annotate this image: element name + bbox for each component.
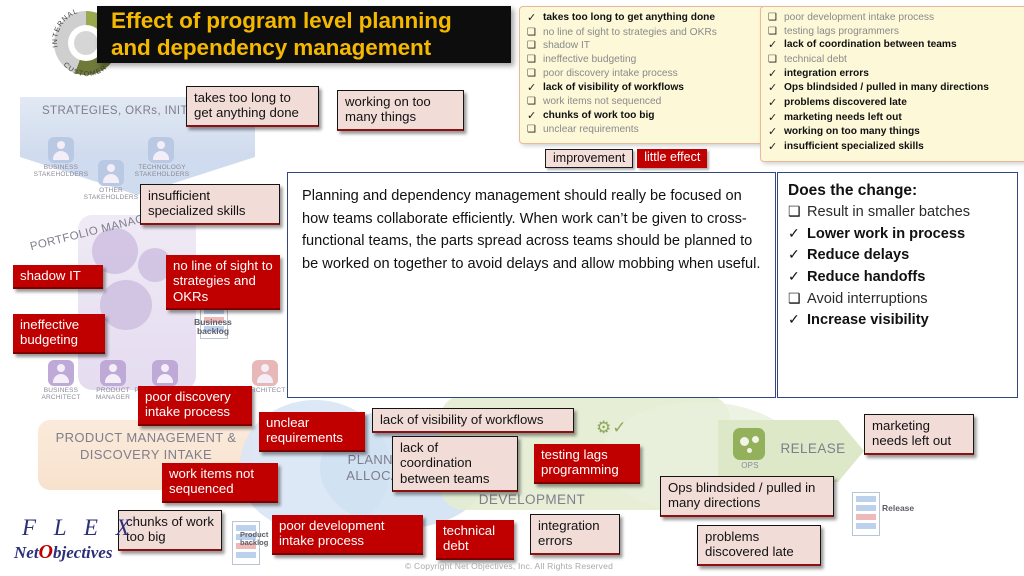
logo-objectives-text: bjectives [53, 543, 112, 562]
svg-text:CUSTOMER: CUSTOMER [62, 61, 109, 78]
checklist-left-item-row[interactable]: ❑work items not sequenced [527, 96, 758, 108]
checklist-left-item-row[interactable]: ❑poor discovery intake process [527, 68, 758, 80]
check-icon[interactable]: ✓ [768, 141, 784, 154]
title-banner: Effect of program level planning and dep… [97, 6, 511, 63]
change-item-label: Reduce delays [807, 246, 909, 265]
callout-poor-discovery-intake[interactable]: poor discovery intake process [138, 386, 252, 426]
checklist-right-item-label: lack of coordination between teams [784, 39, 957, 51]
check-icon[interactable]: ✓ [788, 311, 807, 329]
checklist-left-item-row[interactable]: ✓chunks of work too big [527, 110, 758, 123]
title-line-2: and dependency management [111, 35, 431, 60]
checkbox-icon[interactable]: ❑ [527, 54, 543, 65]
callout-insufficient-skills[interactable]: insufficient specialized skills [140, 184, 280, 225]
checklist-right-item-row[interactable]: ✓marketing needs left out [768, 112, 1024, 125]
badge-customer-text: CUSTOMER [62, 61, 109, 78]
checklist-right-item-label: insufficient specialized skills [784, 141, 924, 153]
check-icon[interactable]: ✓ [768, 97, 784, 110]
callout-integration-errors[interactable]: integration errors [530, 514, 620, 555]
change-item-label: Increase visibility [807, 311, 929, 330]
checkbox-icon[interactable]: ❑ [768, 54, 784, 65]
checklist-right-item-row[interactable]: ✓lack of coordination between teams [768, 39, 1024, 52]
person-icon-product-manager [100, 360, 126, 386]
checklist-left-item-row[interactable]: ❑shadow IT [527, 40, 758, 52]
checklist-panel-left: ✓takes too long to get anything done❑no … [519, 6, 767, 144]
page-title: Effect of program level planning and dep… [111, 8, 452, 60]
checklist-left-item-label: poor discovery intake process [543, 68, 678, 80]
main-panel-body: Planning and dependency management shoul… [302, 185, 761, 275]
checklist-left-item-label: lack of visibility of workflows [543, 82, 684, 94]
legend-little-effect: little effect [637, 149, 707, 168]
change-item-row[interactable]: ❑Result in smaller batches [788, 203, 1007, 222]
slide-canvas: STRATEGIES, OKRs, INITIATIVES BUSINESS S… [0, 0, 1024, 576]
callout-work-items-not-seq[interactable]: work items not sequenced [162, 463, 278, 503]
callout-ops-blindsided[interactable]: Ops blindsided / pulled in many directio… [660, 476, 834, 517]
callout-testing-lags[interactable]: testing lags programming [534, 444, 640, 484]
check-icon[interactable]: ✓ [527, 82, 543, 95]
role-label-business-stakeholders: BUSINESS STAKEHOLDERS [22, 164, 100, 179]
callout-ineffective-budgeting[interactable]: ineffective budgeting [13, 314, 105, 354]
check-icon[interactable]: ✓ [768, 82, 784, 95]
checklist-right-item-row[interactable]: ✓Ops blindsided / pulled in many directi… [768, 82, 1024, 95]
checklist-left-item-label: takes too long to get anything done [543, 12, 715, 24]
checklist-right-item-row[interactable]: ❑testing lags programmers [768, 26, 1024, 38]
callout-lack-coordination[interactable]: lack of coordination between teams [392, 436, 518, 492]
callout-lack-visibility[interactable]: lack of visibility of workflows [372, 408, 574, 433]
callout-technical-debt[interactable]: technical debt [436, 520, 514, 560]
legend: improvement little effect [545, 149, 707, 168]
checkbox-icon[interactable]: ❑ [527, 68, 543, 79]
checkbox-icon[interactable]: ❑ [527, 124, 543, 135]
change-item-label: Result in smaller batches [807, 203, 970, 222]
check-icon[interactable]: ✓ [527, 12, 543, 25]
business-backlog-caption: Business backlog [182, 318, 244, 337]
badge-internal-text: INTERNAL [52, 8, 80, 48]
pmdi-label: PRODUCT MANAGEMENT & DISCOVERY INTAKE [40, 430, 252, 463]
checklist-right-item-row[interactable]: ✓integration errors [768, 68, 1024, 81]
callout-marketing-left-out[interactable]: marketing needs left out [864, 414, 974, 455]
checklist-right-item-label: technical debt [784, 54, 847, 66]
checklist-right-item-label: poor development intake process [784, 12, 934, 24]
release-label: RELEASE [775, 441, 851, 456]
checklist-right-item-label: problems discovered late [784, 97, 907, 109]
checklist-left-item-row[interactable]: ✓takes too long to get anything done [527, 12, 758, 25]
release-backlog-caption: Release [882, 504, 924, 513]
callout-no-line-of-sight[interactable]: no line of sight to strategies and OKRs [166, 255, 280, 310]
callout-problems-late[interactable]: problems discovered late [697, 525, 821, 566]
person-icon-architect [252, 360, 278, 386]
role-label-technology-stakeholders: TECHNOLOGY STAKEHOLDERS [122, 164, 202, 179]
checklist-left-item-label: chunks of work too big [543, 110, 655, 122]
checklist-left-item-row[interactable]: ❑no line of sight to strategies and OKRs [527, 27, 758, 39]
checklist-left-item-label: unclear requirements [543, 124, 639, 136]
change-item-label: Lower work in process [807, 225, 965, 244]
change-item-row[interactable]: ✓Reduce delays [788, 246, 1007, 265]
change-item-label: Reduce handoffs [807, 268, 925, 287]
change-item-row[interactable]: ✓Increase visibility [788, 311, 1007, 330]
check-icon[interactable]: ✓ [788, 268, 807, 286]
checkbox-icon[interactable]: ❑ [527, 27, 543, 38]
checklist-right-item-label: Ops blindsided / pulled in many directio… [784, 82, 989, 94]
change-item-label: Avoid interruptions [807, 290, 928, 309]
agility-icon: ⚙✓ [596, 418, 636, 442]
checklist-right-item-label: testing lags programmers [784, 26, 899, 38]
check-icon[interactable]: ✓ [768, 39, 784, 52]
checklist-left-item-row[interactable]: ❑ineffective budgeting [527, 54, 758, 66]
callout-shadow-it[interactable]: shadow IT [13, 265, 103, 289]
callout-takes-too-long[interactable]: takes too long to get anything done [186, 86, 319, 127]
checkbox-icon[interactable]: ❑ [527, 40, 543, 51]
checkbox-icon[interactable]: ❑ [788, 203, 807, 221]
change-item-row[interactable]: ✓Reduce handoffs [788, 268, 1007, 287]
release-backlog-card [852, 492, 880, 536]
change-item-row[interactable]: ❑Avoid interruptions [788, 290, 1007, 309]
checklist-right-item-row[interactable]: ✓working on too many things [768, 126, 1024, 139]
check-icon[interactable]: ✓ [788, 246, 807, 264]
checklist-left-item-label: no line of sight to strategies and OKRs [543, 27, 717, 39]
logo-net-text: Net [14, 543, 39, 562]
check-icon[interactable]: ✓ [527, 110, 543, 123]
title-line-1: Effect of program level planning [111, 8, 452, 33]
checkbox-icon[interactable]: ❑ [527, 96, 543, 107]
callout-unclear-requirements[interactable]: unclear requirements [259, 412, 365, 452]
checklist-right-item-label: integration errors [784, 68, 869, 80]
legend-improvement: improvement [545, 149, 633, 168]
ops-icon [733, 428, 765, 460]
checklist-panel-right: ❑poor development intake process❑testing… [760, 6, 1024, 162]
checklist-left-item-label: work items not sequenced [543, 96, 661, 108]
checklist-right-item-row[interactable]: ✓insufficient specialized skills [768, 141, 1024, 154]
does-the-change-panel: Does the change: ❑Result in smaller batc… [777, 172, 1018, 398]
checkbox-icon[interactable]: ❑ [788, 290, 807, 308]
checklist-right-item-row[interactable]: ❑technical debt [768, 54, 1024, 66]
svg-text:INTERNAL: INTERNAL [52, 8, 80, 48]
person-icon-product-owner [152, 360, 178, 386]
person-icon-business-stakeholders [48, 137, 74, 163]
change-item-row[interactable]: ✓Lower work in process [788, 225, 1007, 244]
checklist-right-item-row[interactable]: ❑poor development intake process [768, 12, 1024, 24]
main-text-panel: Planning and dependency management shoul… [287, 172, 776, 398]
role-label-other-stakeholders: OTHER STAKEHOLDERS [72, 187, 150, 202]
person-icon-business-architect [48, 360, 74, 386]
net-objectives-logo: NetObjectives [14, 541, 112, 564]
ops-label: OPS [731, 461, 769, 470]
development-label: DEVELOPMENT [442, 492, 622, 507]
checklist-left-item-row[interactable]: ✓lack of visibility of workflows [527, 82, 758, 95]
checklist-right-item-label: working on too many things [784, 126, 920, 138]
copyright-notice: © Copyright Net Objectives, Inc. All Rig… [405, 561, 613, 571]
does-the-change-heading: Does the change: [788, 182, 1007, 200]
check-icon[interactable]: ✓ [768, 68, 784, 81]
checklist-right-item-row[interactable]: ✓problems discovered late [768, 97, 1024, 110]
portfolio-blob-3 [100, 280, 152, 330]
checkbox-icon[interactable]: ❑ [768, 26, 784, 37]
check-icon[interactable]: ✓ [768, 126, 784, 139]
logo-o-glyph: O [39, 541, 53, 563]
checklist-left-item-label: shadow IT [543, 40, 590, 52]
callout-poor-dev-intake[interactable]: poor development intake process [272, 515, 423, 555]
checklist-left-item-row[interactable]: ❑unclear requirements [527, 124, 758, 136]
checklist-right-item-label: marketing needs left out [784, 112, 902, 124]
check-icon[interactable]: ✓ [768, 112, 784, 125]
person-icon-other-stakeholders [98, 160, 124, 186]
check-icon[interactable]: ✓ [788, 225, 807, 243]
checkbox-icon[interactable]: ❑ [768, 12, 784, 23]
callout-working-too-many[interactable]: working on too many things [337, 90, 464, 131]
checklist-left-item-label: ineffective budgeting [543, 54, 636, 66]
flex-logo: F L E X [22, 515, 136, 541]
person-icon-technology-stakeholders [148, 137, 174, 163]
